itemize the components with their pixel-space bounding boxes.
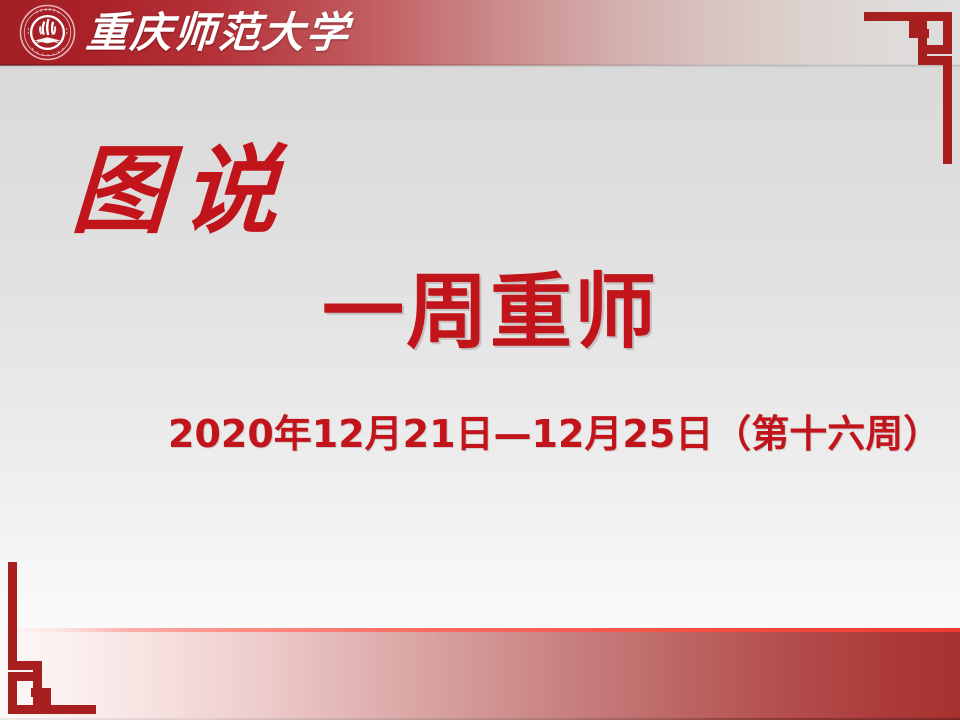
corner-ornament-bottom-left: [0, 558, 100, 718]
bottom-decorative-band: [0, 628, 960, 718]
presentation-slide: 重庆师范大学: [0, 0, 960, 720]
university-seal-icon: [19, 4, 76, 61]
corner-ornament-top-right: [860, 8, 960, 168]
slide-date-range: 2020年12月21日—12月25日（第十六周）: [168, 413, 941, 457]
slide-title-main: 图说: [69, 143, 294, 239]
slide-title-sub: 一周重师: [322, 272, 658, 354]
header-bottom-edge: [0, 64, 960, 66]
university-name: 重庆师范大学: [84, 4, 352, 62]
bottom-band-accent-line: [0, 628, 960, 632]
